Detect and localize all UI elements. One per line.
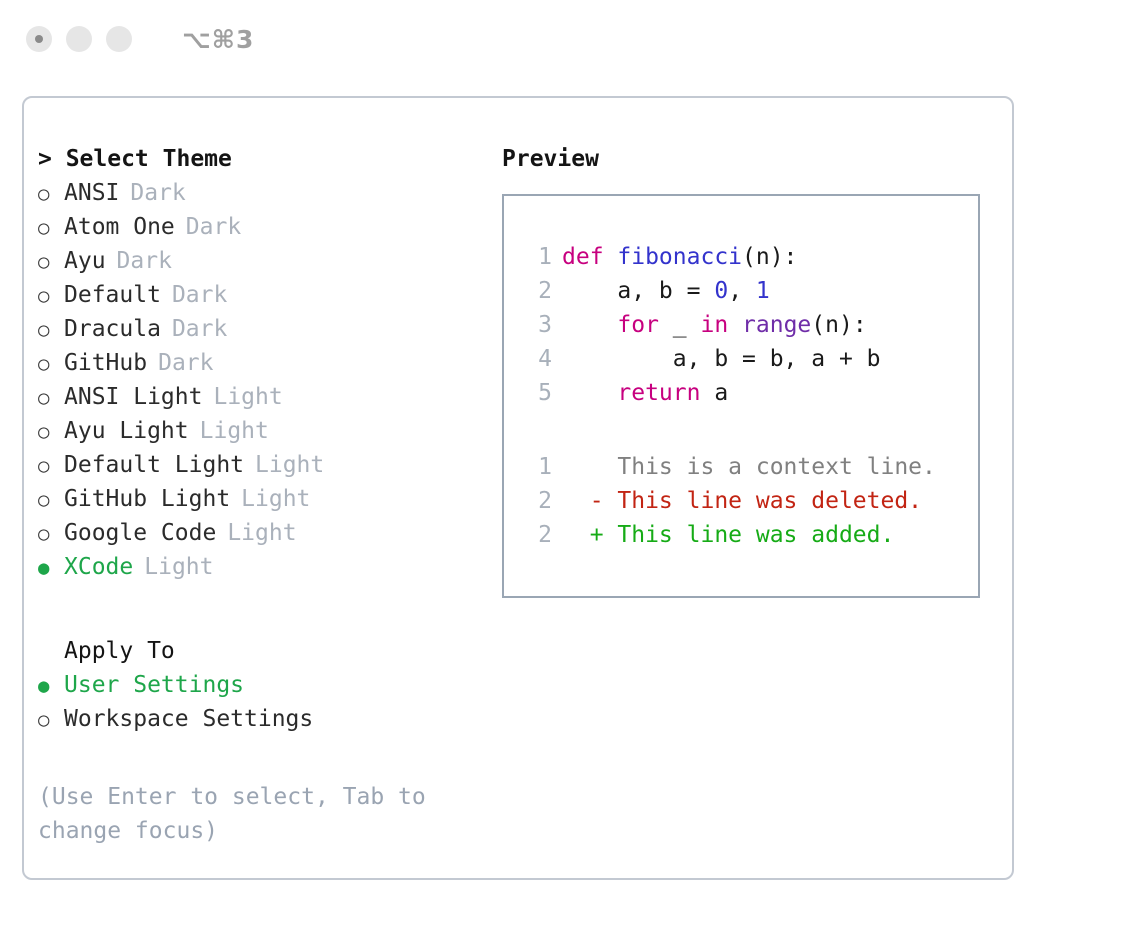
radio-unselected-icon: ○ — [38, 211, 64, 245]
code-token-plain-code: (n): — [742, 244, 797, 270]
code-token-kw: in — [700, 312, 728, 338]
theme-variant-tag: Dark — [117, 244, 172, 278]
theme-variant-tag: Light — [227, 516, 296, 550]
diff-text: This line was added. — [604, 522, 895, 548]
theme-option-1[interactable]: ○Atom OneDark — [38, 210, 488, 244]
code-token-kw: def — [562, 244, 617, 270]
code-token-plain-code: a, b = — [562, 278, 714, 304]
diff-line-1: 2 - This line was deleted. — [524, 484, 978, 518]
window-dot-active-inner — [35, 35, 43, 43]
preview-box: 1def fibonacci(n):2 a, b = 0, 13 for _ i… — [502, 194, 980, 598]
theme-option-label: GitHub Light — [64, 482, 230, 516]
theme-variant-tag: Light — [200, 414, 269, 448]
code-line-number: 5 — [524, 376, 552, 410]
app-root: ⌥⌘3 > Select Theme ○ANSIDark○Atom OneDar… — [0, 0, 1140, 934]
preview-gap — [524, 410, 978, 450]
theme-option-5[interactable]: ○GitHubDark — [38, 346, 488, 380]
theme-option-4[interactable]: ○DraculaDark — [38, 312, 488, 346]
theme-option-2[interactable]: ○AyuDark — [38, 244, 488, 278]
theme-variant-tag: Dark — [158, 346, 213, 380]
radio-selected-icon: ● — [38, 669, 64, 703]
apply-to-option-1[interactable]: ○Workspace Settings — [38, 702, 488, 736]
theme-option-0[interactable]: ○ANSIDark — [38, 176, 488, 210]
theme-variant-tag: Dark — [172, 312, 227, 346]
code-token-fn: fibonacci — [617, 244, 742, 270]
hint-spacer — [38, 736, 488, 780]
title-bar: ⌥⌘3 — [0, 0, 1140, 78]
code-token-plain-code — [562, 312, 617, 338]
theme-option-label: ANSI Light — [64, 380, 202, 414]
apply-to-header: Apply To — [38, 634, 488, 668]
keyboard-shortcut-label: ⌥⌘3 — [182, 25, 254, 54]
theme-option-label: XCode — [64, 550, 133, 584]
code-line-4: 5 return a — [524, 376, 978, 410]
apply-to-spacer — [38, 584, 488, 634]
diff-line-number: 1 — [524, 450, 552, 484]
keyboard-hint-text: (Use Enter to select, Tab to change focu… — [38, 780, 448, 848]
code-line-number: 2 — [524, 274, 552, 308]
diff-sign: + — [562, 522, 604, 548]
theme-option-label: Google Code — [64, 516, 216, 550]
theme-variant-tag: Light — [241, 482, 310, 516]
apply-to-list: ●User Settings○Workspace Settings — [38, 668, 488, 736]
radio-unselected-icon: ○ — [38, 703, 64, 737]
theme-variant-tag: Dark — [130, 176, 185, 210]
theme-option-8[interactable]: ○Default LightLight — [38, 448, 488, 482]
preview-diff-block: 1 This is a context line.2 - This line w… — [524, 450, 978, 552]
diff-line-number: 2 — [524, 518, 552, 552]
radio-unselected-icon: ○ — [38, 449, 64, 483]
code-line-0: 1def fibonacci(n): — [524, 240, 978, 274]
theme-option-label: Ayu — [64, 244, 106, 278]
code-token-kw: return — [617, 380, 700, 406]
theme-option-label: Dracula — [64, 312, 161, 346]
theme-option-label: ANSI — [64, 176, 119, 210]
main-window: > Select Theme ○ANSIDark○Atom OneDark○Ay… — [22, 96, 1014, 880]
theme-option-6[interactable]: ○ANSI LightLight — [38, 380, 488, 414]
theme-option-7[interactable]: ○Ayu LightLight — [38, 414, 488, 448]
theme-option-label: Default — [64, 278, 161, 312]
code-line-1: 2 a, b = 0, 1 — [524, 274, 978, 308]
radio-unselected-icon: ○ — [38, 279, 64, 313]
code-token-plain-code: _ — [659, 312, 701, 338]
diff-line-2: 2 + This line was added. — [524, 518, 978, 552]
code-token-num: 1 — [756, 278, 770, 304]
theme-variant-tag: Light — [213, 380, 282, 414]
window-columns: > Select Theme ○ANSIDark○Atom OneDark○Ay… — [24, 98, 1012, 878]
code-line-3: 4 a, b = b, a + b — [524, 342, 978, 376]
preview-column: Preview 1def fibonacci(n):2 a, b = 0, 13… — [502, 142, 1002, 598]
code-token-bi: range — [742, 312, 811, 338]
radio-unselected-icon: ○ — [38, 381, 64, 415]
code-token-plain-code: a — [700, 380, 728, 406]
code-line-2: 3 for _ in range(n): — [524, 308, 978, 342]
theme-variant-tag: Light — [255, 448, 324, 482]
code-token-plain-code: , — [728, 278, 756, 304]
code-token-plain-code — [728, 312, 742, 338]
theme-variant-tag: Dark — [186, 210, 241, 244]
code-token-plain-code: a, b = b, a + b — [562, 346, 881, 372]
theme-option-label: Ayu Light — [64, 414, 189, 448]
diff-text: This is a context line. — [604, 454, 936, 480]
theme-option-label: Atom One — [64, 210, 175, 244]
diff-sign — [562, 454, 604, 480]
diff-text: This line was deleted. — [604, 488, 923, 514]
theme-option-10[interactable]: ○Google CodeLight — [38, 516, 488, 550]
window-dot-third[interactable] — [106, 26, 132, 52]
code-token-num: 0 — [714, 278, 728, 304]
theme-option-label: Default Light — [64, 448, 244, 482]
preview-code-block: 1def fibonacci(n):2 a, b = 0, 13 for _ i… — [524, 240, 978, 410]
diff-line-0: 1 This is a context line. — [524, 450, 978, 484]
diff-line-number: 2 — [524, 484, 552, 518]
theme-option-9[interactable]: ○GitHub LightLight — [38, 482, 488, 516]
theme-variant-tag: Dark — [172, 278, 227, 312]
theme-option-3[interactable]: ○DefaultDark — [38, 278, 488, 312]
radio-unselected-icon: ○ — [38, 517, 64, 551]
apply-to-option-label: User Settings — [64, 668, 244, 702]
radio-selected-icon: ● — [38, 551, 64, 585]
code-line-number: 1 — [524, 240, 552, 274]
preview-title: Preview — [502, 142, 1002, 176]
theme-option-11[interactable]: ●XCodeLight — [38, 550, 488, 584]
code-line-number: 3 — [524, 308, 552, 342]
theme-list: ○ANSIDark○Atom OneDark○AyuDark○DefaultDa… — [38, 176, 488, 584]
code-token-plain-code: (n): — [811, 312, 866, 338]
window-dot-second[interactable] — [66, 26, 92, 52]
diff-sign: - — [562, 488, 604, 514]
radio-unselected-icon: ○ — [38, 483, 64, 517]
radio-unselected-icon: ○ — [38, 415, 64, 449]
code-token-plain-code — [562, 380, 617, 406]
apply-to-option-0[interactable]: ●User Settings — [38, 668, 488, 702]
theme-option-label: GitHub — [64, 346, 147, 380]
radio-unselected-icon: ○ — [38, 177, 64, 211]
radio-unselected-icon: ○ — [38, 245, 64, 279]
radio-unselected-icon: ○ — [38, 313, 64, 347]
theme-selection-column: > Select Theme ○ANSIDark○Atom OneDark○Ay… — [38, 142, 488, 848]
apply-to-option-label: Workspace Settings — [64, 702, 313, 736]
radio-unselected-icon: ○ — [38, 347, 64, 381]
code-token-kw: for — [617, 312, 659, 338]
code-line-number: 4 — [524, 342, 552, 376]
window-dot-active[interactable] — [26, 26, 52, 52]
select-theme-header: > Select Theme — [38, 142, 488, 176]
theme-variant-tag: Light — [144, 550, 213, 584]
